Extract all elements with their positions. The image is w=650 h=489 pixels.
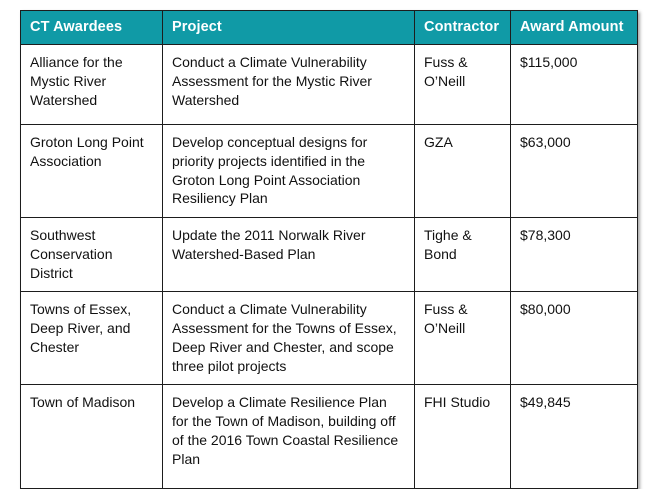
ct-awardees-table: CT Awardees Project Contractor Award Amo… (20, 10, 638, 489)
cell-contractor: GZA (415, 125, 511, 218)
cell-amount: $63,000 (511, 125, 638, 218)
cell-project: Develop a Climate Resilience Plan for th… (163, 385, 415, 489)
cell-amount: $49,845 (511, 385, 638, 489)
cell-project: Develop conceptual designs for priority … (163, 125, 415, 218)
column-header-contractor: Contractor (415, 11, 511, 45)
cell-project: Update the 2011 Norwalk River Watershed-… (163, 218, 415, 292)
cell-amount: $78,300 (511, 218, 638, 292)
cell-contractor: Tighe & Bond (415, 218, 511, 292)
column-header-amount: Award Amount (511, 11, 638, 45)
cell-contractor: FHI Studio (415, 385, 511, 489)
cell-awardee: Southwest Conservation District (21, 218, 163, 292)
cell-awardee: Groton Long Point Association (21, 125, 163, 218)
table-row: Groton Long Point Association Develop co… (21, 125, 638, 218)
cell-awardee: Town of Madison (21, 385, 163, 489)
cell-project: Conduct a Climate Vulnerability Assessme… (163, 292, 415, 385)
table-header-row: CT Awardees Project Contractor Award Amo… (21, 11, 638, 45)
table-body: Alliance for the Mystic River Watershed … (21, 45, 638, 489)
cell-project: Conduct a Climate Vulnerability Assessme… (163, 45, 415, 125)
table-row: Alliance for the Mystic River Watershed … (21, 45, 638, 125)
table-header: CT Awardees Project Contractor Award Amo… (21, 11, 638, 45)
cell-amount: $115,000 (511, 45, 638, 125)
column-header-project: Project (163, 11, 415, 45)
table-row: Towns of Essex, Deep River, and Chester … (21, 292, 638, 385)
cell-awardee: Alliance for the Mystic River Watershed (21, 45, 163, 125)
cell-contractor: Fuss & O’Neill (415, 292, 511, 385)
table-row: Southwest Conservation District Update t… (21, 218, 638, 292)
awards-table-container: CT Awardees Project Contractor Award Amo… (20, 10, 637, 489)
cell-awardee: Towns of Essex, Deep River, and Chester (21, 292, 163, 385)
column-header-awardee: CT Awardees (21, 11, 163, 45)
table-row: Town of Madison Develop a Climate Resili… (21, 385, 638, 489)
cell-amount: $80,000 (511, 292, 638, 385)
cell-contractor: Fuss & O’Neill (415, 45, 511, 125)
